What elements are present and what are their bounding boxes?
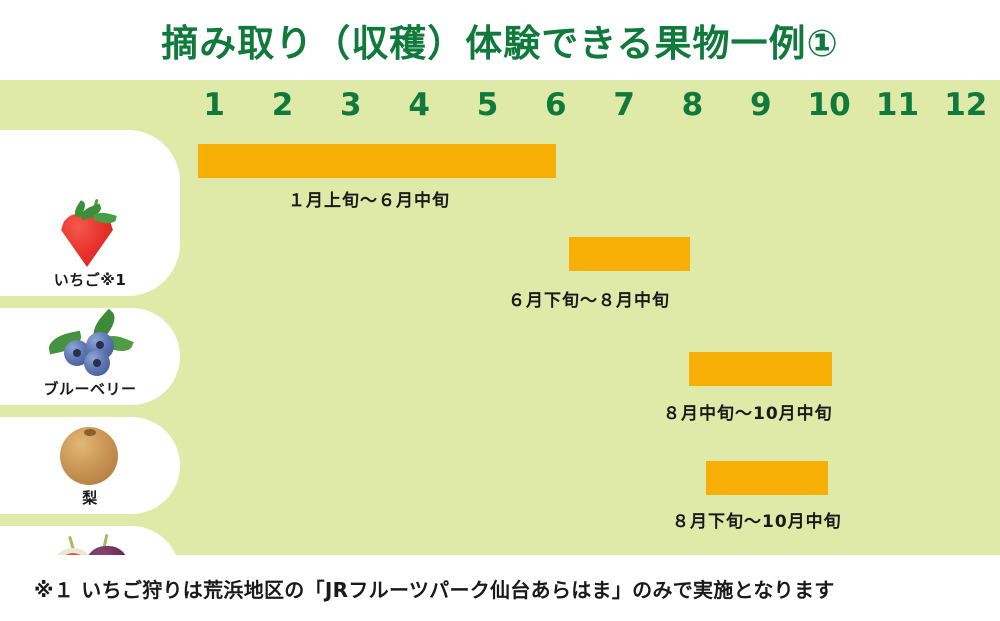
month-label-2: 2 <box>248 80 316 130</box>
month-label-9: 9 <box>727 80 795 130</box>
harvest-bar-pear <box>689 352 832 386</box>
footnote-bar: ※１ いちご狩りは荒浜地区の「JRフルーツパーク仙台あらはま」のみで実施となりま… <box>0 555 1000 621</box>
harvest-period-blueberry: ６月下旬〜８月中旬 <box>508 286 670 311</box>
month-label-1: 1 <box>180 80 248 130</box>
harvest-bar-blueberry <box>569 237 690 271</box>
fruit-sidebar: いちご※1 ブルーベリー 梨 <box>0 80 180 555</box>
title-bar: 摘み取り（収穫）体験できる果物一例① <box>0 0 1000 80</box>
fruit-row-fig: いちじく <box>0 526 180 555</box>
month-label-8: 8 <box>658 80 726 130</box>
fruit-label-strawberry: いちご※1 <box>54 269 127 290</box>
fruit-row-strawberry: いちご※1 <box>0 130 180 296</box>
calendar-chart: 1 2 3 4 5 6 7 8 9 10 11 12 １月上旬〜６月中旬 ６月下… <box>0 80 1000 555</box>
fruit-label-pear: 梨 <box>82 487 98 508</box>
fig-icon <box>42 526 138 555</box>
month-label-6: 6 <box>522 80 590 130</box>
harvest-bar-fig <box>706 461 828 495</box>
fruit-label-blueberry: ブルーベリー <box>43 378 136 399</box>
month-header-row: 1 2 3 4 5 6 7 8 9 10 11 12 <box>180 80 1000 130</box>
fruit-harvest-calendar: 摘み取り（収穫）体験できる果物一例① 1 2 3 <box>0 0 1000 621</box>
month-label-7: 7 <box>590 80 658 130</box>
harvest-period-pear: ８月中旬〜10月中旬 <box>663 399 833 424</box>
page-title: 摘み取り（収穫）体験できる果物一例① <box>161 13 839 67</box>
strawberry-icon <box>42 197 138 267</box>
harvest-period-strawberry: １月上旬〜６月中旬 <box>288 186 450 211</box>
month-label-11: 11 <box>863 80 931 130</box>
month-label-10: 10 <box>795 80 863 130</box>
footnote-text: ※１ いちご狩りは荒浜地区の「JRフルーツパーク仙台あらはま」のみで実施となりま… <box>0 574 835 603</box>
month-label-4: 4 <box>385 80 453 130</box>
harvest-bar-strawberry <box>198 144 556 178</box>
pear-icon <box>42 417 138 485</box>
month-label-3: 3 <box>317 80 385 130</box>
month-label-5: 5 <box>453 80 521 130</box>
fruit-row-pear: 梨 <box>0 417 180 514</box>
blueberry-icon <box>42 308 138 376</box>
month-label-12: 12 <box>932 80 1000 130</box>
harvest-period-fig: ８月下旬〜10月中旬 <box>672 507 842 532</box>
fruit-row-blueberry: ブルーベリー <box>0 308 180 405</box>
